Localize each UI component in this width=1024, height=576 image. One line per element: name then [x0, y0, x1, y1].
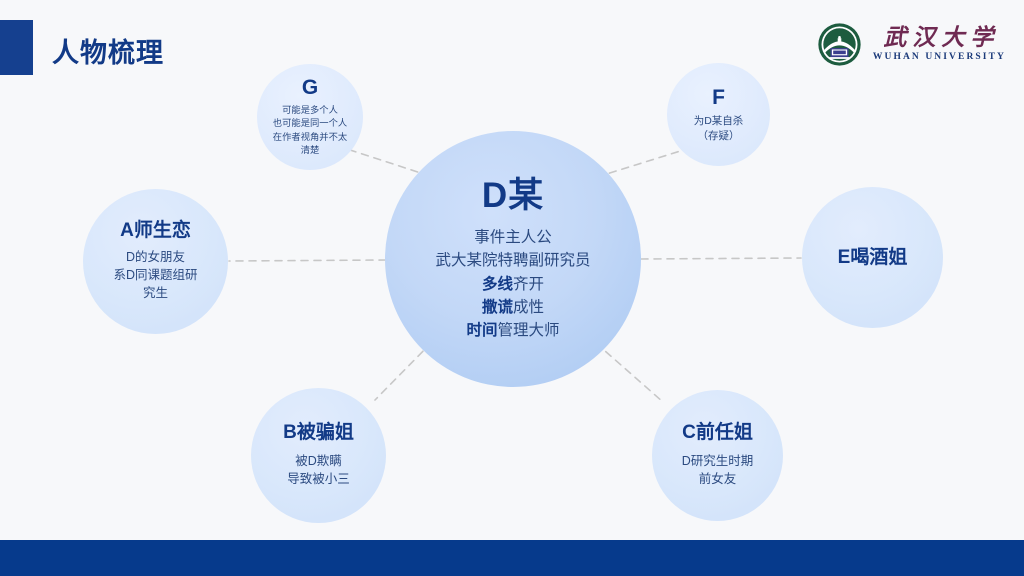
node-a-line-0: D的女朋友 [113, 248, 197, 266]
university-logo: 武汉大学 WUHAN UNIVERSITY [817, 22, 1006, 67]
node-b[interactable]: B被骗姐 被D欺瞒 导致被小三 [251, 388, 386, 523]
connector-center-to-e [641, 258, 801, 259]
connector-center-to-c [596, 343, 663, 402]
node-g-title: G [302, 76, 318, 100]
node-g[interactable]: G 可能是多个人 也可能是同一个人 在作者视角并不太 清楚 [257, 64, 363, 170]
node-center-line-2-rest: 齐开 [513, 276, 544, 293]
node-center-d[interactable]: D某 事件主人公 武大某院特聘副研究员 多线齐开 撒谎成性 时间管理大师 [385, 131, 641, 387]
node-b-body: 被D欺瞒 导致被小三 [287, 452, 350, 488]
node-g-line-2: 在作者视角并不太 [273, 131, 347, 144]
node-b-line-1: 导致被小三 [287, 470, 350, 488]
node-center-line-3: 撒谎成性 [435, 296, 590, 319]
node-center-line-0: 事件主人公 [435, 226, 590, 249]
node-e-title: E喝酒姐 [838, 247, 908, 269]
node-center-line-3-rest: 成性 [513, 299, 544, 316]
logo-wordmark: 武汉大学 WUHAN UNIVERSITY [871, 26, 1006, 63]
wuhan-university-emblem-icon [817, 22, 862, 67]
node-center-line-4-rest: 管理大师 [497, 322, 559, 339]
node-f-title: F [712, 86, 725, 110]
node-g-line-3: 清楚 [273, 144, 347, 157]
connector-center-to-a [229, 260, 386, 261]
node-center-line-2: 多线齐开 [435, 273, 590, 296]
logo-english-name: WUHAN UNIVERSITY [871, 53, 1006, 63]
node-f[interactable]: F 为D某自杀 （存疑） [667, 63, 770, 166]
node-a-line-1: 系D同课题组研 [113, 266, 197, 284]
node-b-title: B被骗姐 [283, 422, 354, 444]
node-center-line-2-emphasis: 多线 [482, 276, 513, 293]
node-a-title: A师生恋 [120, 220, 191, 242]
node-a[interactable]: A师生恋 D的女朋友 系D同课题组研 究生 [83, 189, 228, 334]
node-center-title: D某 [482, 176, 544, 216]
page-title: 人物梳理 [52, 31, 164, 70]
node-center-line-4-emphasis: 时间 [466, 322, 497, 339]
node-b-line-0: 被D欺瞒 [287, 452, 350, 470]
node-g-line-1: 也可能是同一个人 [273, 117, 347, 130]
node-c-body: D研究生时期 前女友 [682, 452, 754, 488]
node-c[interactable]: C前任姐 D研究生时期 前女友 [652, 390, 783, 521]
connector-center-to-g [344, 148, 430, 176]
footer-bar [0, 540, 1024, 576]
node-c-line-0: D研究生时期 [682, 452, 754, 470]
logo-chinese-name: 武汉大学 [877, 26, 999, 49]
node-g-body: 可能是多个人 也可能是同一个人 在作者视角并不太 清楚 [273, 104, 347, 158]
node-f-line-0: 为D某自杀 [694, 114, 744, 129]
title-accent-bar [0, 20, 33, 75]
node-g-line-0: 可能是多个人 [273, 104, 347, 117]
node-center-line-3-emphasis: 撒谎 [482, 299, 513, 316]
node-f-body: 为D某自杀 （存疑） [694, 114, 744, 143]
node-center-body: 事件主人公 武大某院特聘副研究员 多线齐开 撒谎成性 时间管理大师 [435, 226, 590, 342]
node-center-line-4: 时间管理大师 [435, 319, 590, 342]
node-c-title: C前任姐 [682, 422, 753, 444]
node-e[interactable]: E喝酒姐 [802, 187, 943, 328]
node-c-line-1: 前女友 [682, 470, 754, 488]
connector-center-to-f [597, 148, 690, 177]
node-a-line-2: 究生 [113, 284, 197, 302]
node-f-line-1: （存疑） [694, 129, 744, 144]
node-center-line-1: 武大某院特聘副研究员 [435, 249, 590, 272]
node-a-body: D的女朋友 系D同课题组研 究生 [113, 248, 197, 302]
slide-canvas: 人物梳理 武汉大学 WUHAN UNIVERSITY [0, 0, 1024, 576]
